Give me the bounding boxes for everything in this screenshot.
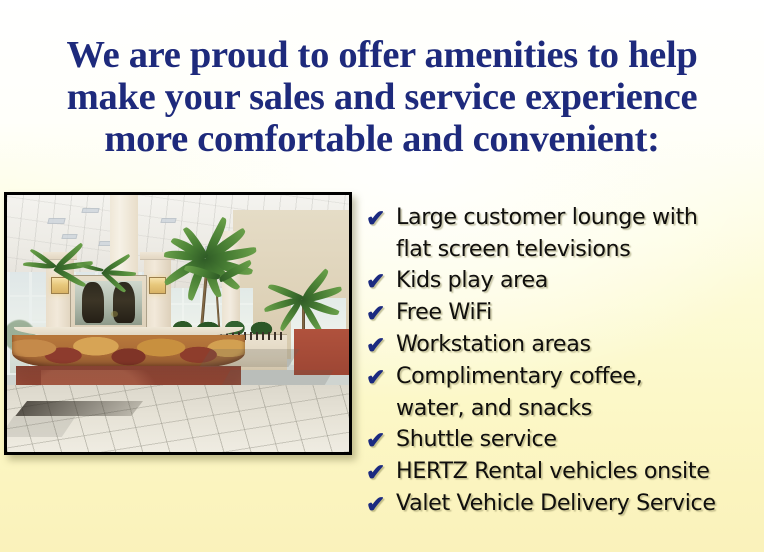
list-item-label: Complimentary coffee, water, and snacks — [396, 361, 762, 424]
floor-dark-band-1 — [200, 349, 300, 367]
palm-midleft-frond-4 — [76, 262, 103, 273]
ceiling-light-3 — [61, 234, 78, 239]
headline-line-3: more comfortable and convenient: — [0, 118, 764, 160]
amenities-slide: { "headline": { "line1": "We are proud t… — [0, 0, 764, 552]
ceiling-light-1 — [47, 218, 66, 224]
lobby-photo-canvas — [7, 195, 349, 452]
list-item[interactable]: ✔ Valet Vehicle Delivery Service — [366, 488, 762, 520]
amenities-list: ✔ Large customer lounge with flat screen… — [366, 202, 762, 520]
check-icon: ✔ — [366, 202, 396, 234]
check-icon: ✔ — [366, 488, 396, 520]
check-icon: ✔ — [366, 329, 396, 361]
headline-line-2: make your sales and service experience — [0, 76, 764, 118]
list-item-label: Shuttle service — [396, 424, 762, 456]
list-item[interactable]: ✔ Large customer lounge with flat screen… — [366, 202, 762, 265]
list-item[interactable]: ✔ Kids play area — [366, 265, 762, 297]
list-item[interactable]: ✔ Free WiFi — [366, 297, 762, 329]
accent-wall-right — [294, 329, 349, 375]
list-item-label: HERTZ Rental vehicles onsite — [396, 456, 762, 488]
indoor-palm-mid-left — [75, 246, 143, 297]
list-item-label: Free WiFi — [396, 297, 762, 329]
check-icon: ✔ — [366, 424, 396, 456]
sculpture-highlight — [111, 311, 118, 317]
list-item[interactable]: ✔ HERTZ Rental vehicles onsite — [366, 456, 762, 488]
list-item-label: Workstation areas — [396, 329, 762, 361]
page-title: We are proud to offer amenities to help … — [0, 34, 764, 160]
lobby-photo — [4, 192, 352, 455]
list-item[interactable]: ✔ Workstation areas — [366, 329, 762, 361]
check-icon: ✔ — [366, 265, 396, 297]
list-item-label: Kids play area — [396, 265, 762, 297]
ceiling-light-2 — [82, 208, 100, 213]
list-item[interactable]: ✔ Complimentary coffee, water, and snack… — [366, 361, 762, 424]
check-icon: ✔ — [366, 297, 396, 329]
desk-floor-shadow — [15, 401, 143, 416]
floor-dark-band-2 — [221, 370, 332, 385]
check-icon: ✔ — [366, 361, 396, 393]
list-item-label: Large customer lounge with flat screen t… — [396, 202, 762, 265]
check-icon: ✔ — [366, 456, 396, 488]
headline-line-1: We are proud to offer amenities to help — [0, 34, 764, 76]
list-item-label: Valet Vehicle Delivery Service — [396, 488, 762, 520]
list-item[interactable]: ✔ Shuttle service — [366, 424, 762, 456]
